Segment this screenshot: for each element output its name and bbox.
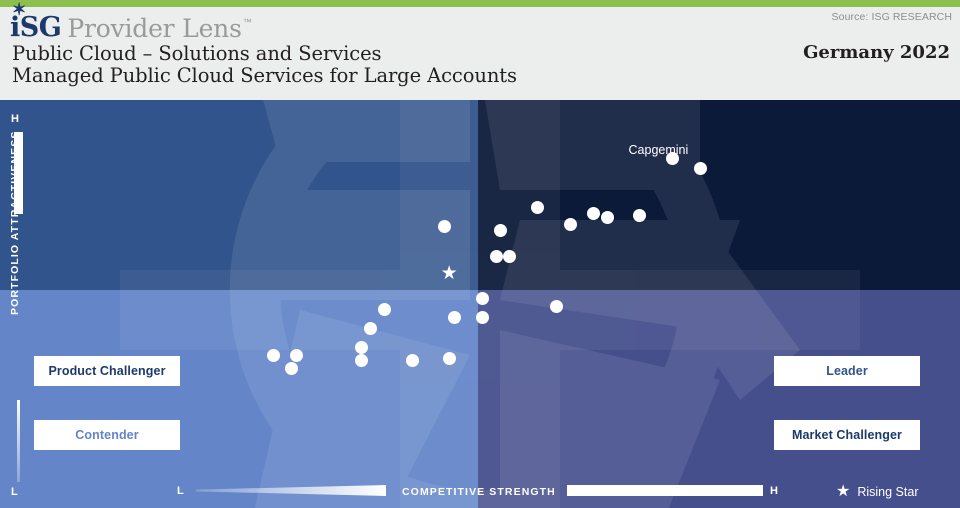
- provider-lens-wordmark: Provider Lens: [67, 16, 241, 41]
- data-point[interactable]: [378, 303, 391, 316]
- quadrant-plot-area: H PORTFOLIO ATTRACTIVENESS L Product Cha…: [0, 100, 960, 508]
- data-point[interactable]: [476, 311, 489, 324]
- data-point[interactable]: [267, 349, 280, 362]
- data-point[interactable]: [285, 362, 298, 375]
- x-axis-bar-right: [567, 485, 763, 496]
- point-label: Capgemini: [629, 143, 689, 157]
- data-point[interactable]: [494, 224, 507, 237]
- isg-star-icon: ✶: [12, 2, 26, 19]
- data-point[interactable]: [633, 209, 646, 222]
- green-accent-bar: [0, 0, 960, 7]
- data-point[interactable]: [550, 300, 563, 313]
- rising-star-label: Rising Star: [857, 485, 918, 499]
- data-point[interactable]: [564, 218, 577, 231]
- study-subtitle: Managed Public Cloud Services for Large …: [12, 64, 517, 87]
- provider-lens-quadrant-chart: ✶ iSG Provider Lens ™ Public Cloud – Sol…: [0, 0, 960, 508]
- x-axis-high-marker: H: [770, 485, 778, 497]
- trademark-symbol: ™: [243, 18, 252, 27]
- data-point[interactable]: [443, 352, 456, 365]
- legend-rising-star: ★ Rising Star: [836, 484, 918, 500]
- data-point[interactable]: [438, 220, 451, 233]
- source-attribution: Source: ISG RESEARCH: [832, 11, 952, 23]
- isg-provider-lens-logo: ✶ iSG Provider Lens ™: [10, 14, 252, 41]
- data-point[interactable]: [355, 354, 368, 367]
- data-point[interactable]: [503, 250, 516, 263]
- study-title: Public Cloud – Solutions and Services: [12, 42, 381, 65]
- region-year-label: Germany 2022: [803, 42, 950, 63]
- data-point[interactable]: [490, 250, 503, 263]
- data-point[interactable]: [448, 311, 461, 324]
- data-point[interactable]: [355, 341, 368, 354]
- rising-star-icon: ★: [836, 484, 850, 500]
- data-point[interactable]: [531, 201, 544, 214]
- header: ✶ iSG Provider Lens ™ Public Cloud – Sol…: [0, 0, 960, 100]
- data-points-layer: Capgemini★: [0, 100, 960, 508]
- data-point[interactable]: [406, 354, 419, 367]
- data-point[interactable]: [587, 207, 600, 220]
- x-axis-low-marker: L: [177, 485, 184, 497]
- data-point[interactable]: [364, 322, 377, 335]
- data-point[interactable]: [290, 349, 303, 362]
- data-point[interactable]: [666, 152, 679, 165]
- isg-wordmark: ✶ iSG: [10, 14, 61, 41]
- data-point-rising-star[interactable]: ★: [441, 264, 458, 283]
- x-axis-title: COMPETITIVE STRENGTH: [402, 486, 556, 498]
- data-point[interactable]: [601, 211, 614, 224]
- data-point[interactable]: [694, 162, 707, 175]
- data-point[interactable]: [476, 292, 489, 305]
